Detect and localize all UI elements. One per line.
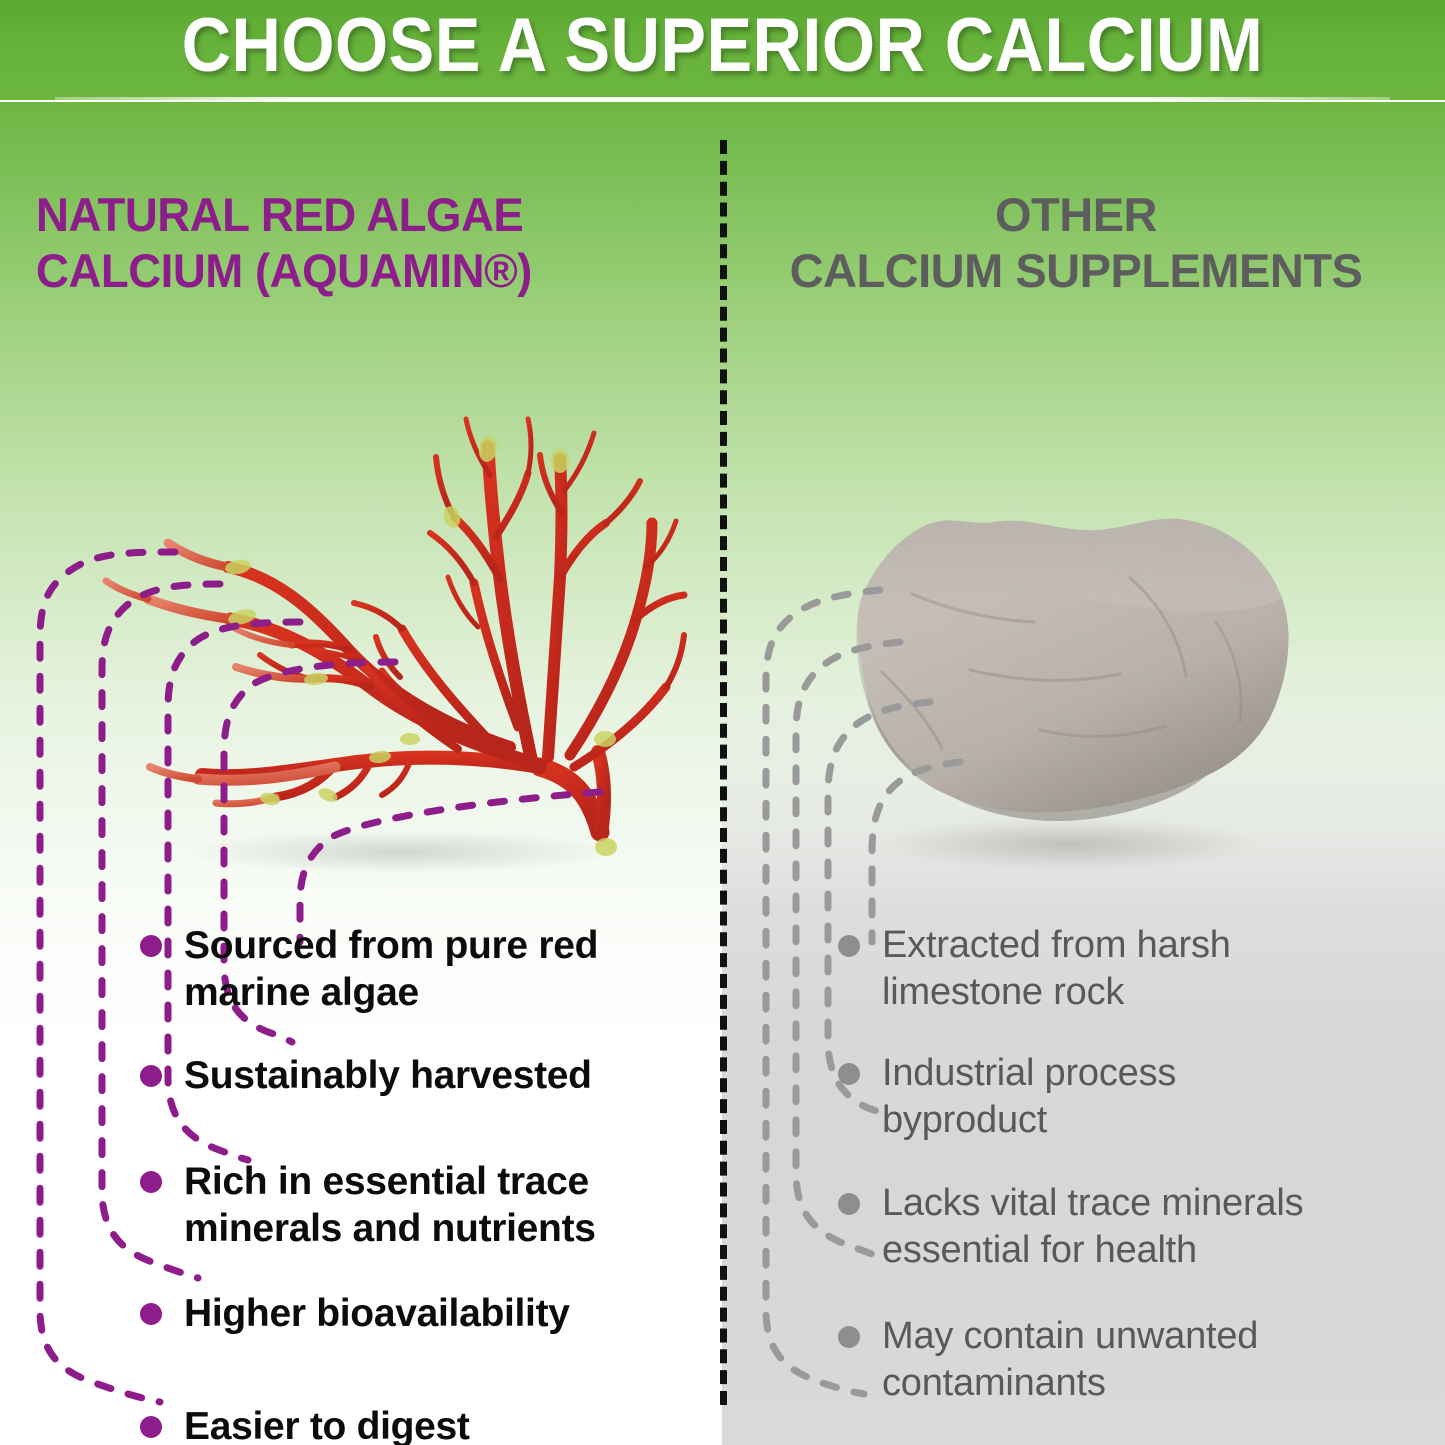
left-bullet-text-4: Higher bioavailability [184, 1290, 570, 1337]
red-algae-image [70, 327, 690, 887]
list-item: Industrial process byproduct [838, 1050, 1418, 1180]
bullet-dot-icon [838, 935, 860, 957]
right-bullet-text-4: May contain unwanted contaminants [882, 1313, 1258, 1407]
right-bullet-text-2: Industrial process byproduct [882, 1050, 1176, 1144]
left-bullet-text-2: Sustainably harvested [184, 1052, 592, 1099]
list-item: May contain unwanted contaminants [838, 1313, 1418, 1407]
list-item: Sustainably harvested [140, 1052, 715, 1158]
list-item: Extracted from harsh limestone rock [838, 922, 1418, 1050]
bullet-dot-icon [140, 1303, 162, 1325]
bullet-dot-icon [140, 1416, 162, 1438]
comparison-body: NATURAL RED ALGAE CALCIUM (AQUAMIN®) OTH… [0, 102, 1445, 1445]
bullet-dot-icon [140, 935, 162, 957]
page-title: CHOOSE A SUPERIOR CALCIUM [72, 0, 1373, 94]
bullet-dot-icon [140, 1171, 162, 1193]
left-bullet-text-3: Rich in essential trace minerals and nut… [184, 1158, 596, 1252]
bullet-dot-icon [838, 1326, 860, 1348]
bullet-dot-icon [140, 1065, 162, 1087]
list-item: Sourced from pure red marine algae [140, 922, 715, 1052]
right-bullet-text-3: Lacks vital trace minerals essential for… [882, 1180, 1303, 1274]
left-bullet-text-1: Sourced from pure red marine algae [184, 922, 598, 1016]
bullet-dot-icon [838, 1063, 860, 1085]
list-item: Higher bioavailability [140, 1290, 715, 1403]
column-divider [720, 140, 727, 1405]
right-bullet-text-1: Extracted from harsh limestone rock [882, 922, 1231, 1016]
left-column-heading: NATURAL RED ALGAE CALCIUM (AQUAMIN®) [36, 187, 676, 299]
right-column-heading: OTHER CALCIUM SUPPLEMENTS [726, 187, 1426, 299]
bullet-dot-icon [838, 1193, 860, 1215]
limestone-rock-image [820, 482, 1300, 882]
right-drawbacks-list: Extracted from harsh limestone rock Indu… [838, 922, 1418, 1407]
left-benefits-list: Sourced from pure red marine algae Susta… [140, 922, 715, 1445]
list-item: Lacks vital trace minerals essential for… [838, 1180, 1418, 1313]
left-bullet-text-5: Easier to digest [184, 1403, 470, 1445]
header-divider-rule [55, 97, 1390, 100]
header-banner: CHOOSE A SUPERIOR CALCIUM [0, 0, 1445, 100]
list-item: Easier to digest [140, 1403, 715, 1445]
list-item: Rich in essential trace minerals and nut… [140, 1158, 715, 1290]
